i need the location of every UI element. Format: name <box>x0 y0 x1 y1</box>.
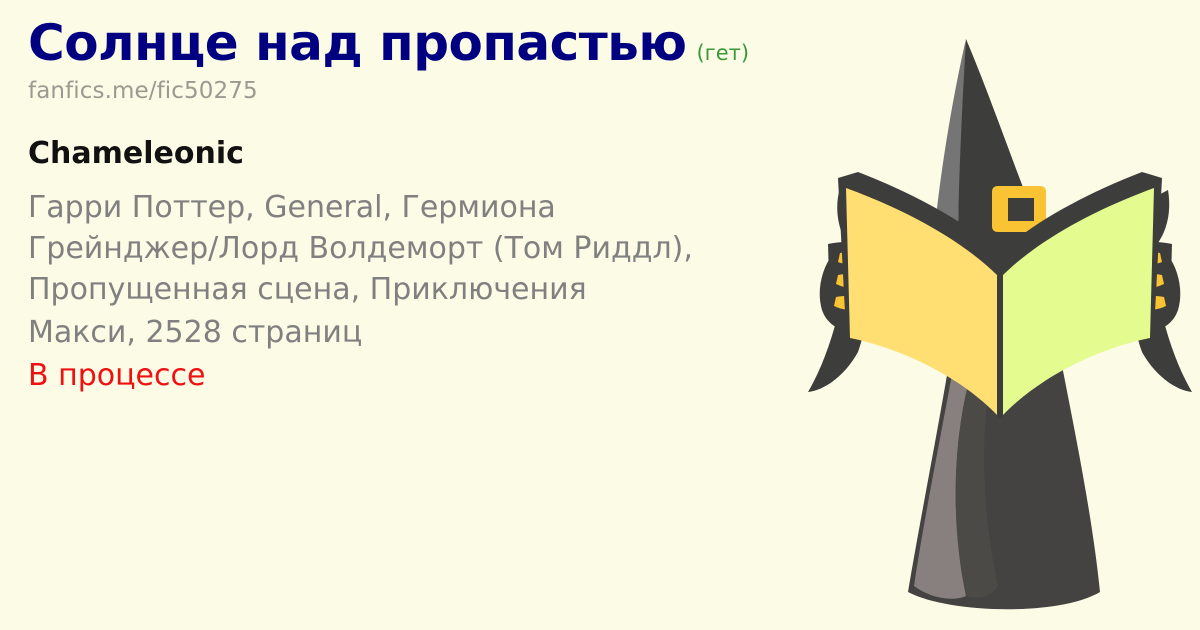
title-row: Солнце над пропастью (гет) <box>28 18 788 68</box>
page-title: Солнце над пропастью <box>28 18 686 68</box>
author-name[interactable]: Chameleonic <box>28 136 788 171</box>
witch-reading-book-illustration <box>800 0 1200 630</box>
fic-info-column: Солнце над пропастью (гет) fanfics.me/fi… <box>28 18 788 396</box>
fic-metadata: Гарри Поттер, General, Гермиона Грейндже… <box>28 187 738 310</box>
buckle-hole <box>1008 198 1034 221</box>
genre-tag: (гет) <box>696 43 749 64</box>
book-spine <box>997 270 1003 418</box>
fic-url[interactable]: fanfics.me/fic50275 <box>28 78 788 104</box>
fic-size: Макси, 2528 страниц <box>28 312 788 353</box>
fic-preview-card: Солнце над пропастью (гет) fanfics.me/fi… <box>0 0 1200 630</box>
status-badge: В процессе <box>28 355 788 396</box>
